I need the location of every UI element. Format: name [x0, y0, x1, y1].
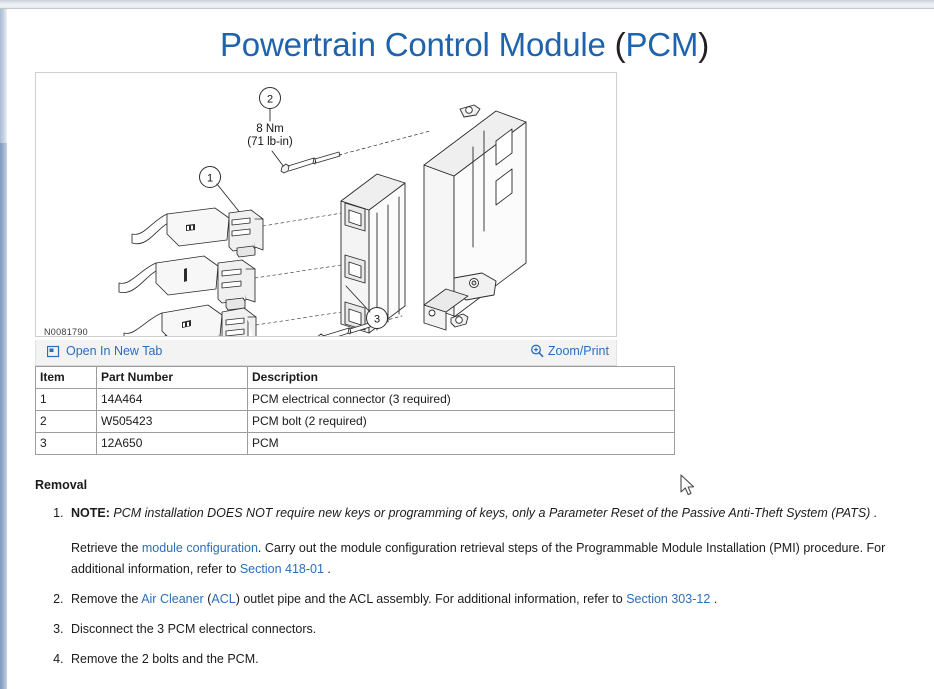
page-title-main: Powertrain Control Module [220, 26, 615, 63]
document-viewport: Powertrain Control Module (PCM) 2 8 Nm (… [7, 9, 934, 689]
svg-text:8 Nm: 8 Nm [256, 123, 283, 135]
cell-description: PCM bolt (2 required) [248, 411, 675, 433]
svg-text:(71 lb-in): (71 lb-in) [247, 136, 293, 148]
cell-item: 3 [36, 433, 97, 455]
page-title: Powertrain Control Module (PCM) [7, 26, 922, 64]
svg-text:3: 3 [374, 314, 380, 326]
step-item-2: Remove the Air Cleaner (ACL) outlet pipe… [67, 589, 927, 610]
step2-text-mid-2: ) outlet pipe and the ACL assembly. For … [236, 592, 627, 606]
column-header-part-number: Part Number [97, 367, 248, 389]
step2-text-before-link: Remove the [71, 592, 141, 606]
table-row: 1 14A464 PCM electrical connector (3 req… [36, 389, 675, 411]
window-top-chrome-bar [0, 0, 934, 9]
cell-item: 1 [36, 389, 97, 411]
zoom-print-button[interactable]: Zoom/Print [530, 344, 609, 358]
link-acl[interactable]: ACL [211, 592, 235, 606]
step-item-3: Disconnect the 3 PCM electrical connecto… [67, 619, 927, 640]
page-title-open-paren: ( [615, 26, 626, 63]
removal-section-heading: Removal [35, 478, 87, 492]
step1-note-paragraph: NOTE: PCM installation DOES NOT require … [71, 503, 927, 524]
column-header-description: Description [248, 367, 675, 389]
open-in-new-tab-button[interactable]: Open In New Tab [47, 344, 162, 358]
link-section-418-01[interactable]: Section 418-01 [240, 562, 324, 576]
external-window-icon [47, 345, 60, 358]
table-row: 3 12A650 PCM [36, 433, 675, 455]
step2-text-after: . [710, 592, 717, 606]
left-edge-rail [0, 9, 7, 689]
table-row: 2 W505423 PCM bolt (2 required) [36, 411, 675, 433]
link-air-cleaner[interactable]: Air Cleaner [141, 592, 204, 606]
step4-text: Remove the 2 bolts and the PCM. [71, 652, 259, 666]
zoom-print-label: Zoom/Print [548, 344, 609, 358]
svg-text:1: 1 [207, 173, 213, 185]
link-module-configuration[interactable]: module configuration [142, 541, 258, 555]
pcm-exploded-view-diagram: 2 8 Nm (71 lb-in) 1 [36, 73, 616, 336]
parts-table: Item Part Number Description 1 14A464 PC… [35, 366, 675, 455]
column-header-item: Item [36, 367, 97, 389]
step-item-1: NOTE: PCM installation DOES NOT require … [67, 503, 927, 580]
technical-illustration-frame[interactable]: 2 8 Nm (71 lb-in) 1 [35, 72, 617, 337]
page-title-abbreviation: PCM [625, 26, 698, 63]
step3-text: Disconnect the 3 PCM electrical connecto… [71, 622, 316, 636]
cell-part-number: 12A650 [97, 433, 248, 455]
figure-toolbar: Open In New Tab Zoom/Print [35, 340, 617, 366]
cell-description: PCM [248, 433, 675, 455]
cell-description: PCM electrical connector (3 required) [248, 389, 675, 411]
figure-id-label: N0081790 [44, 327, 88, 337]
step1-text-before-link: Retrieve the [71, 541, 142, 555]
cell-item: 2 [36, 411, 97, 433]
page-title-close-paren: ) [698, 26, 709, 63]
step-item-4: Remove the 2 bolts and the PCM. [67, 649, 927, 670]
svg-text:2: 2 [267, 94, 273, 106]
note-body-text: PCM installation DOES NOT require new ke… [110, 506, 877, 520]
cell-part-number: 14A464 [97, 389, 248, 411]
removal-steps-list: NOTE: PCM installation DOES NOT require … [35, 503, 927, 679]
note-keyword: NOTE: [71, 506, 110, 520]
open-in-new-tab-label: Open In New Tab [66, 344, 162, 358]
cell-part-number: W505423 [97, 411, 248, 433]
magnifier-plus-icon [530, 344, 544, 358]
table-header-row: Item Part Number Description [36, 367, 675, 389]
step1-body-paragraph: Retrieve the module configuration. Carry… [71, 538, 927, 580]
left-edge-rail-upper-segment [0, 9, 7, 143]
step1-text-after: . [324, 562, 331, 576]
link-section-303-12[interactable]: Section 303-12 [626, 592, 710, 606]
